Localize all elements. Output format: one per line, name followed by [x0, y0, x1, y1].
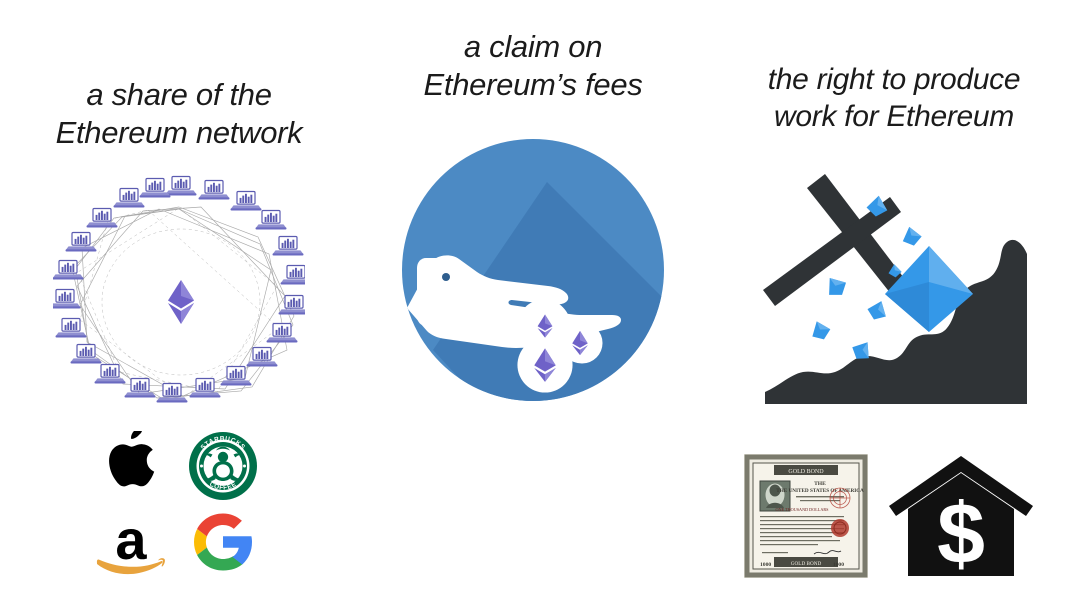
amazon-logo-cell: a [90, 505, 176, 579]
column-right-to-produce-work: the right to produce work for Ethereum [708, 0, 1080, 596]
heading-line-2: Ethereum’s fees [358, 66, 708, 104]
google-logo-cell [180, 505, 266, 579]
column-claim-on-fees: a claim on Ethereum’s fees [358, 0, 708, 596]
amazon-logo: a [93, 507, 173, 577]
analogy-group-label: company equity logos [178, 504, 179, 505]
hand-receiving-ether-illustration [399, 136, 667, 404]
heading-claim-on-fees: a claim on Ethereum’s fees [358, 28, 708, 104]
column-share-of-network: a share of the Ethereum network [0, 0, 358, 596]
heading-line-2: work for Ethereum [708, 99, 1080, 136]
ethereum-mining-illustration [749, 160, 1039, 410]
heading-line-2: Ethereum network [0, 114, 358, 152]
apple-logo [102, 431, 164, 501]
heading-share-of-network: a share of the Ethereum network [0, 76, 358, 152]
starbucks-logo-cell: STARBUCKS COFFEE [180, 429, 266, 503]
svg-text:a: a [115, 508, 147, 571]
heading-line-1: a claim on [358, 28, 708, 66]
slide-canvas: a share of the Ethereum network [0, 0, 1080, 596]
decentralized-network-illustration [53, 168, 305, 410]
heading-line-1: the right to produce [708, 62, 1080, 99]
equity-analogy-logos: company equity logos [88, 428, 268, 580]
cuff-button [442, 273, 450, 281]
apple-logo-cell [90, 429, 176, 503]
ethereum-logo-center [168, 280, 194, 324]
google-logo [188, 507, 258, 577]
starbucks-logo: STARBUCKS COFFEE [188, 431, 258, 501]
heading-right-to-produce-work: the right to produce work for Ethereum [708, 62, 1080, 135]
heading-line-1: a share of the [0, 76, 358, 114]
